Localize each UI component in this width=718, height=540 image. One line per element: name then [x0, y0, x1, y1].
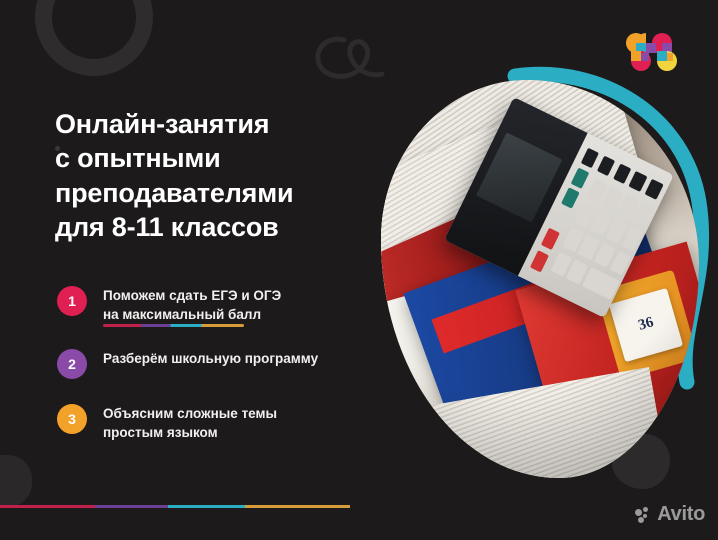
- benefits-list: 1 Поможем сдать ЕГЭ и ОГЭ на максимальны…: [57, 285, 377, 443]
- accent-bar-segment-teal: [168, 505, 245, 508]
- decorative-rounded-rect: [0, 455, 32, 507]
- photo-container: 36: [365, 62, 715, 492]
- list-item: 3 Объясним сложные темы простым языком: [57, 403, 377, 442]
- benefit-number-badge: 3: [57, 404, 87, 434]
- headline-line-1: Онлайн-занятия: [55, 107, 355, 141]
- benefit-text: Разберём школьную программу: [103, 348, 318, 368]
- list-item: 1 Поможем сдать ЕГЭ и ОГЭ на максимальны…: [57, 285, 377, 324]
- ad-banner: 36: [0, 0, 718, 540]
- headline-line-3: преподавателями: [55, 176, 355, 210]
- page-title: Онлайн-занятия с опытными преподавателям…: [55, 107, 355, 244]
- decorative-ring-shape: [35, 0, 153, 76]
- avito-watermark: Avito: [635, 503, 705, 526]
- benefit-text-line-1: Объясним сложные темы: [103, 404, 277, 423]
- benefit-text-line-1: Разберём школьную программу: [103, 349, 318, 368]
- accent-color-bar: [0, 505, 350, 508]
- benefit-text-line-1: Поможем сдать ЕГЭ и ОГЭ: [103, 286, 281, 305]
- benefit-number-badge: 2: [57, 349, 87, 379]
- accent-bar-segment-gold: [245, 505, 350, 508]
- photo-image: 36: [381, 80, 699, 478]
- avito-logo-icon: [635, 507, 654, 523]
- avito-wordmark: Avito: [657, 503, 705, 526]
- accent-bar-segment-crimson: [0, 505, 95, 508]
- benefit-accent-underline: [103, 324, 244, 327]
- headline-line-2: с опытными: [55, 141, 355, 175]
- benefit-text-line-2: простым языком: [103, 423, 277, 442]
- accent-bar-segment-purple: [95, 505, 169, 508]
- benefit-text: Объясним сложные темы простым языком: [103, 403, 277, 442]
- list-item: 2 Разберём школьную программу: [57, 348, 377, 379]
- benefit-text: Поможем сдать ЕГЭ и ОГЭ на максимальный …: [103, 285, 281, 324]
- benefit-number-badge: 1: [57, 286, 87, 316]
- benefit-text-line-2: на максимальный балл: [103, 305, 281, 324]
- headline-line-4: для 8-11 классов: [55, 210, 355, 244]
